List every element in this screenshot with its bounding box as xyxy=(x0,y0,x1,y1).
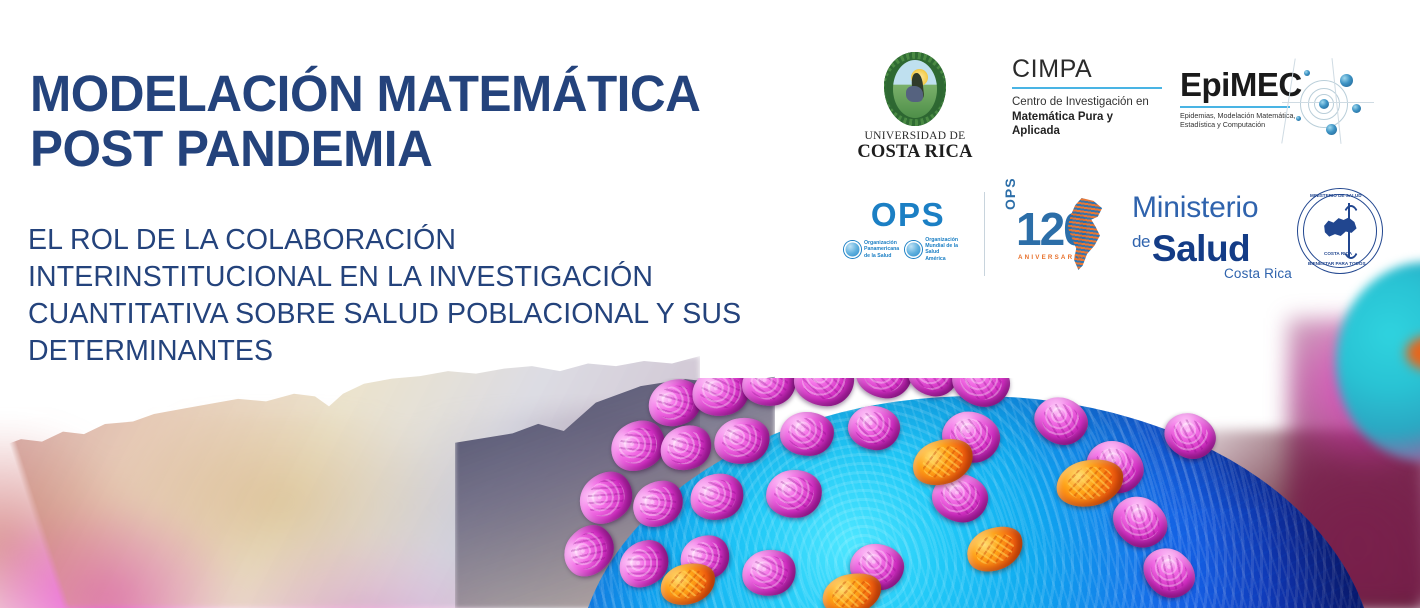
logo-epimec: EpiMEC Epidemias, Modelación Matemática,… xyxy=(1180,68,1360,160)
spike-protein xyxy=(610,530,678,597)
torn-edge-left xyxy=(0,356,700,608)
globe-icon xyxy=(844,241,861,258)
magenta-haze-right xyxy=(1288,318,1420,608)
paho-emblem-text: Organización Panamericana de la Salud xyxy=(864,240,899,259)
spike-protein xyxy=(928,470,991,527)
ucr-label-line2: COSTA RICA xyxy=(850,142,980,162)
ministerio-line2-wrap: deSalud xyxy=(1132,223,1292,268)
spike-protein xyxy=(687,378,755,422)
spike-protein xyxy=(792,378,855,408)
ministerio-seal-icon: MINISTERIO DE SALUD BIENESTAR PARA TODOS… xyxy=(1297,188,1383,274)
spike-protein xyxy=(1028,390,1094,452)
virion-texture xyxy=(576,396,1376,608)
spike-protein xyxy=(853,378,915,402)
nucleocapsid-protein xyxy=(960,519,1030,580)
nucleocapsid-protein xyxy=(656,557,721,608)
cimpa-line2: Matemática Pura y xyxy=(1012,110,1172,125)
banner-title: MODELACIÓN MATEMÁTICA POST PANDEMIA xyxy=(30,66,700,176)
who-emblem: Organización Mundial de la Salud América xyxy=(905,237,972,262)
secondary-virion xyxy=(1336,262,1420,462)
spike-protein xyxy=(848,541,907,592)
spike-protein xyxy=(654,418,719,478)
who-emblem-region: América xyxy=(925,256,972,262)
ops-acronym: OPS xyxy=(844,198,972,232)
spike-protein xyxy=(904,378,962,401)
spike-protein xyxy=(710,413,774,470)
seal-text-ring: MINISTERIO DE SALUD BIENESTAR PARA TODOS… xyxy=(1298,189,1382,273)
spike-protein xyxy=(673,527,737,588)
spike-protein xyxy=(846,403,902,452)
cimpa-acronym: CIMPA xyxy=(1012,56,1172,82)
ministerio-de: de xyxy=(1132,232,1150,251)
logo-ministerio-de-salud: Ministerio deSalud Costa Rica xyxy=(1132,192,1292,281)
ministerio-line2: Salud xyxy=(1152,228,1250,269)
cimpa-rule xyxy=(1012,87,1162,89)
spike-protein xyxy=(569,461,643,534)
nucleocapsid-protein xyxy=(818,567,886,608)
spike-protein xyxy=(937,406,1005,469)
ops120-anniversary-label: ANIVERSARIO xyxy=(1018,254,1085,261)
paho-emblem: Organización Panamericana de la Salud xyxy=(844,237,899,262)
spike-protein xyxy=(1104,487,1177,557)
ucr-crest-icon xyxy=(884,52,946,126)
sars-cov-2-virion xyxy=(556,378,1420,608)
who-emblem-text: Organización Mundial de la Salud xyxy=(925,237,972,256)
nucleocapsid-protein xyxy=(907,431,980,492)
ucr-label-line1: UNIVERSIDAD DE xyxy=(850,130,980,142)
spike-protein xyxy=(556,516,624,587)
virion-membrane xyxy=(576,396,1376,608)
spike-protein xyxy=(947,378,1016,413)
logo-cimpa: CIMPA Centro de Investigación en Matemát… xyxy=(1012,56,1172,139)
cimpa-line3: Aplicada xyxy=(1012,124,1172,139)
globe-icon xyxy=(905,241,922,258)
ops-emblems: Organización Panamericana de la Salud Or… xyxy=(844,237,972,262)
spike-protein xyxy=(641,378,709,435)
spike-protein xyxy=(684,467,750,527)
event-banner: MODELACIÓN MATEMÁTICA POST PANDEMIA EL R… xyxy=(0,0,1420,608)
cimpa-line1: Centro de Investigación en xyxy=(1012,95,1172,110)
spike-protein xyxy=(624,472,691,537)
spike-protein xyxy=(1134,538,1205,607)
logo-ops: OPS Organización Panamericana de la Salu… xyxy=(844,198,972,262)
epimec-network-icon xyxy=(1282,58,1374,144)
bokeh-background xyxy=(0,392,700,608)
shadow-wedge xyxy=(455,372,775,608)
banner-subtitle: EL ROL DE LA COLABORACIÓN INTERINSTITUCI… xyxy=(28,222,858,370)
spike-protein xyxy=(1158,406,1223,466)
spike-protein xyxy=(740,378,798,409)
epimec-rule xyxy=(1180,106,1290,108)
spike-protein xyxy=(738,545,800,601)
seal-text-mid: COSTA RICA xyxy=(1324,251,1352,256)
ucr-laurel-ring xyxy=(884,52,946,126)
logo-ops-120-aniversario: OPS 120 ANIVERSARIO xyxy=(1000,194,1110,284)
dark-plate-right xyxy=(1170,430,1420,608)
spike-protein xyxy=(601,410,674,481)
logo-divider xyxy=(984,192,985,276)
spike-protein xyxy=(1078,432,1152,502)
seal-text-top: MINISTERIO DE SALUD xyxy=(1310,193,1362,198)
nucleocapsid-protein xyxy=(1052,453,1128,512)
spike-protein xyxy=(779,411,835,457)
spike-protein xyxy=(764,467,825,521)
seal-text-bottom: BIENESTAR PARA TODOS xyxy=(1308,261,1366,266)
virion-rim-shading xyxy=(576,396,1376,608)
logo-universidad-de-costa-rica: UNIVERSIDAD DE COSTA RICA xyxy=(850,52,980,162)
ministerio-line1: Ministerio xyxy=(1132,192,1292,223)
